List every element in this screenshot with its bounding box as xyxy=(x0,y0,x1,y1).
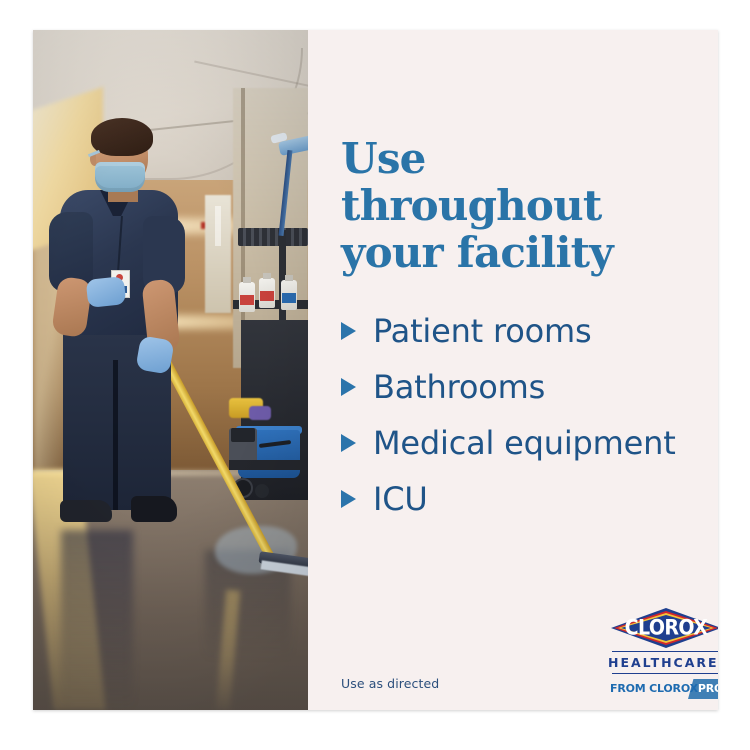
from-cloroxpro-badge: FROM CLOROXPRO xyxy=(610,681,718,698)
pro-text: PRO xyxy=(698,682,718,695)
clorox-wordmark: CLOROX xyxy=(611,616,718,641)
triangle-right-icon xyxy=(341,378,356,396)
logo-divider xyxy=(612,651,718,652)
list-item: Patient rooms xyxy=(341,312,701,351)
list-item: Medical equipment xyxy=(341,424,701,463)
photo-vignette xyxy=(33,30,308,710)
headline-line-2: your facility xyxy=(341,228,613,277)
hero-photo xyxy=(33,30,308,710)
disclaimer-text: Use as directed xyxy=(341,676,439,691)
from-clorox-text: FROM CLOROX xyxy=(610,682,698,695)
clorox-healthcare-logo: CLOROX HEALTHCARE® FROM CLOROXPRO xyxy=(608,608,718,698)
logo-divider xyxy=(612,673,718,674)
triangle-right-icon xyxy=(341,434,356,452)
page-title: Use throughoutyour facility xyxy=(341,135,699,276)
clorox-diamond-icon: CLOROX xyxy=(611,608,718,648)
list-item-label: Bathrooms xyxy=(373,368,545,407)
usage-list: Patient rooms Bathrooms Medical equipmen… xyxy=(341,312,701,536)
list-item: ICU xyxy=(341,480,701,519)
list-item-label: Medical equipment xyxy=(373,424,676,463)
healthcare-text: HEALTHCARE xyxy=(608,655,718,670)
content-panel: Use throughoutyour facility Patient room… xyxy=(308,30,718,710)
healthcare-wordmark: HEALTHCARE® xyxy=(608,655,718,670)
list-item: Bathrooms xyxy=(341,368,701,407)
triangle-right-icon xyxy=(341,322,356,340)
list-item-label: Patient rooms xyxy=(373,312,591,351)
ad-card: Use throughoutyour facility Patient room… xyxy=(33,30,718,710)
headline-line-1: Use throughout xyxy=(341,134,601,230)
list-item-label: ICU xyxy=(373,480,428,519)
from-cloroxpro-text: FROM CLOROXPRO xyxy=(610,682,718,695)
triangle-right-icon xyxy=(341,490,356,508)
